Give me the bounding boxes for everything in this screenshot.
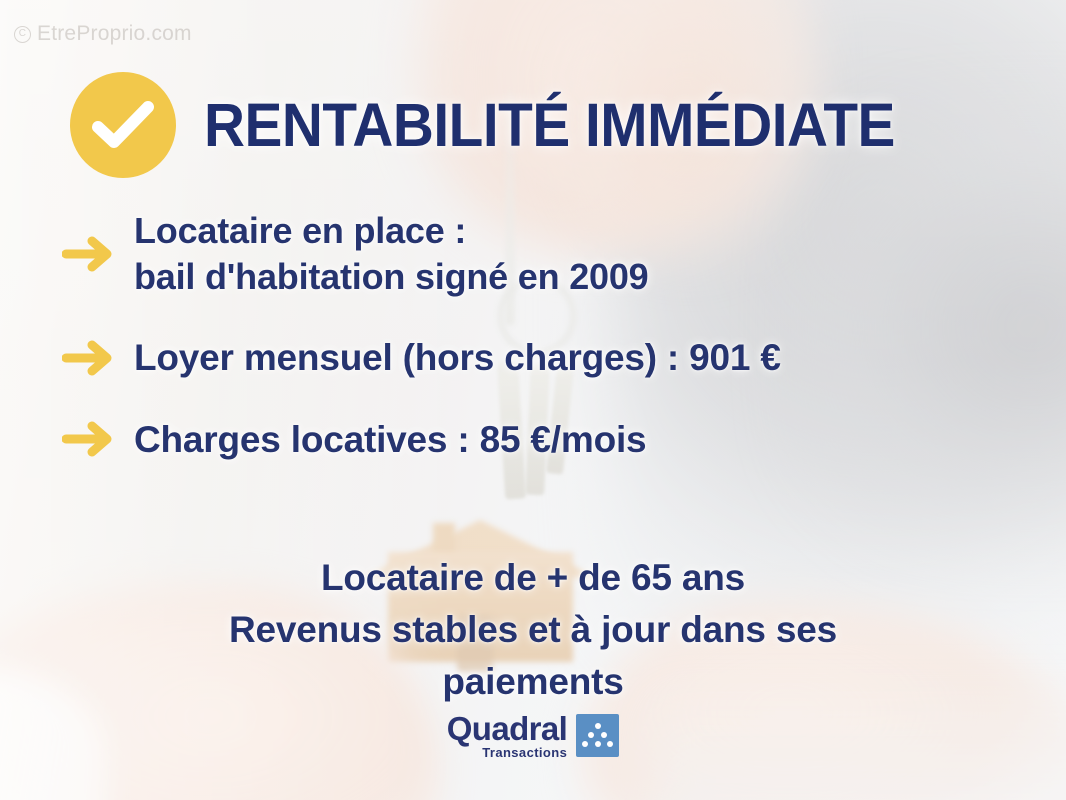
list-item: Locataire en place : bail d'habitation s… [56,208,1016,300]
page-title: RENTABILITÉ IMMÉDIATE [204,95,895,156]
check-circle-icon [70,72,176,178]
arrow-right-icon [56,234,134,274]
header: RENTABILITÉ IMMÉDIATE [70,72,947,178]
copyright-icon: C [14,26,31,43]
brand-subtitle: Transactions [482,746,567,759]
logo-dot [601,732,607,738]
brand-logo: Quadral Transactions [0,712,1066,759]
watermark-label: EtreProprio.com [37,22,192,46]
watermark: C EtreProprio.com [14,22,192,46]
logo-dot [595,741,601,747]
logo-dot [582,741,588,747]
logo-dot [607,741,613,747]
list-item: Loyer mensuel (hors charges) : 901 € [56,334,1016,381]
arrow-right-icon [56,419,134,459]
logo-dot [595,723,601,729]
list-item-label: Loyer mensuel (hors charges) : 901 € [134,334,781,381]
arrow-right-icon [56,338,134,378]
promo-slide: C EtreProprio.com RENTABILITÉ IMMÉDIATE … [0,0,1066,800]
brand-logo-wordmark: Quadral Transactions [447,712,568,759]
list-item-label: Locataire en place : bail d'habitation s… [134,208,648,300]
list-item: Charges locatives : 85 €/mois [56,416,1016,463]
quadral-dots-icon [576,714,619,757]
brand-name: Quadral [447,712,568,745]
logo-dot [588,732,594,738]
footnote-text: Locataire de + de 65 ans Revenus stables… [0,552,1066,707]
bullet-list: Locataire en place : bail d'habitation s… [56,208,1016,497]
list-item-label: Charges locatives : 85 €/mois [134,416,646,463]
